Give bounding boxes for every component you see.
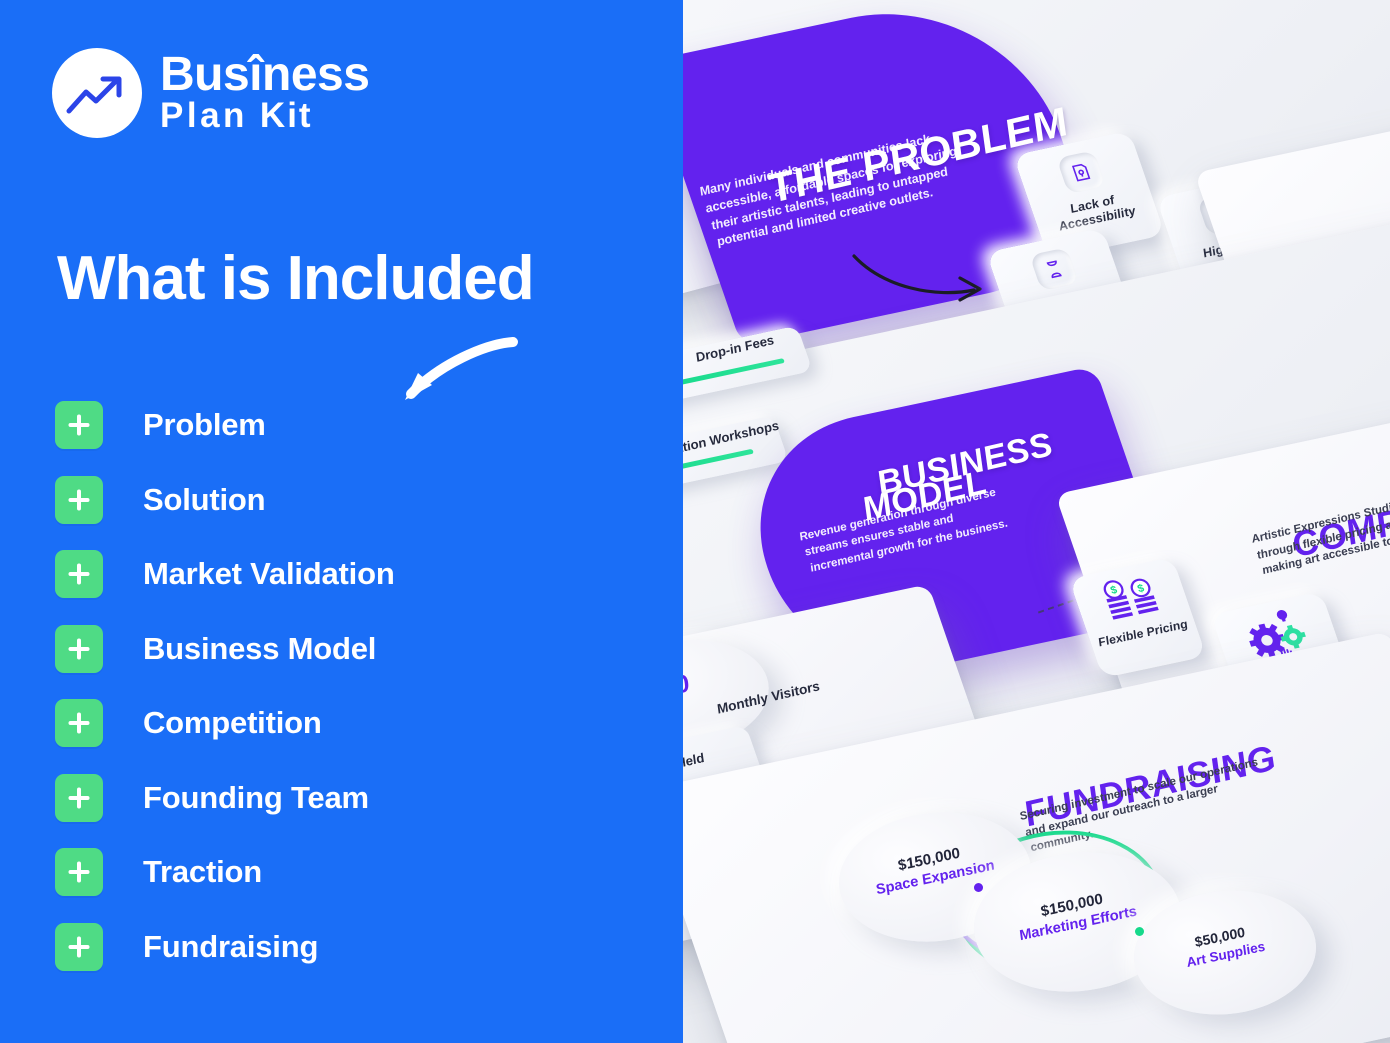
plus-icon [55,848,103,896]
list-item[interactable]: Traction [55,835,615,910]
list-item-label: Market Validation [143,556,395,592]
list-item-label: Founding Team [143,780,369,816]
fundraising-connector-dot-2 [1135,927,1144,936]
left-blue-panel: Busîness Plan Kit What is Included Probl… [0,0,683,1043]
list-item[interactable]: Problem [55,388,615,463]
list-item[interactable]: Competition [55,686,615,761]
page-title: What is Included [57,248,534,310]
brand-name-line1: Busîness [160,51,369,98]
plus-icon [55,923,103,971]
plus-icon [55,774,103,822]
list-item[interactable]: Fundraising [55,910,615,985]
plus-icon [55,401,103,449]
list-item-label: Traction [143,854,262,890]
brand-name-plan: Plan [160,98,248,135]
list-item-label: Fundraising [143,929,318,965]
plus-icon [55,550,103,598]
growth-chart-circle-icon [52,48,142,138]
list-item-label: Business Model [143,631,376,667]
list-item[interactable]: Solution [55,463,615,538]
lock-document-icon [1056,150,1106,194]
hourglass-icon [1029,247,1079,291]
plus-icon [55,699,103,747]
list-item-label: Solution [143,482,265,518]
plus-icon [55,476,103,524]
brand-logo: Busîness Plan Kit [52,48,369,138]
plus-icon [55,625,103,673]
fundraising-connector-dot-1 [974,883,983,892]
brand-name-kit: Kit [260,98,313,135]
problem-curved-arrow-icon [850,248,1000,308]
list-item[interactable]: Founding Team [55,761,615,836]
list-item[interactable]: Business Model [55,612,615,687]
list-item-label: Problem [143,407,266,443]
list-item-label: Competition [143,705,322,741]
included-items-list: Problem Solution Market Validation Busin… [55,388,615,984]
list-item[interactable]: Market Validation [55,537,615,612]
